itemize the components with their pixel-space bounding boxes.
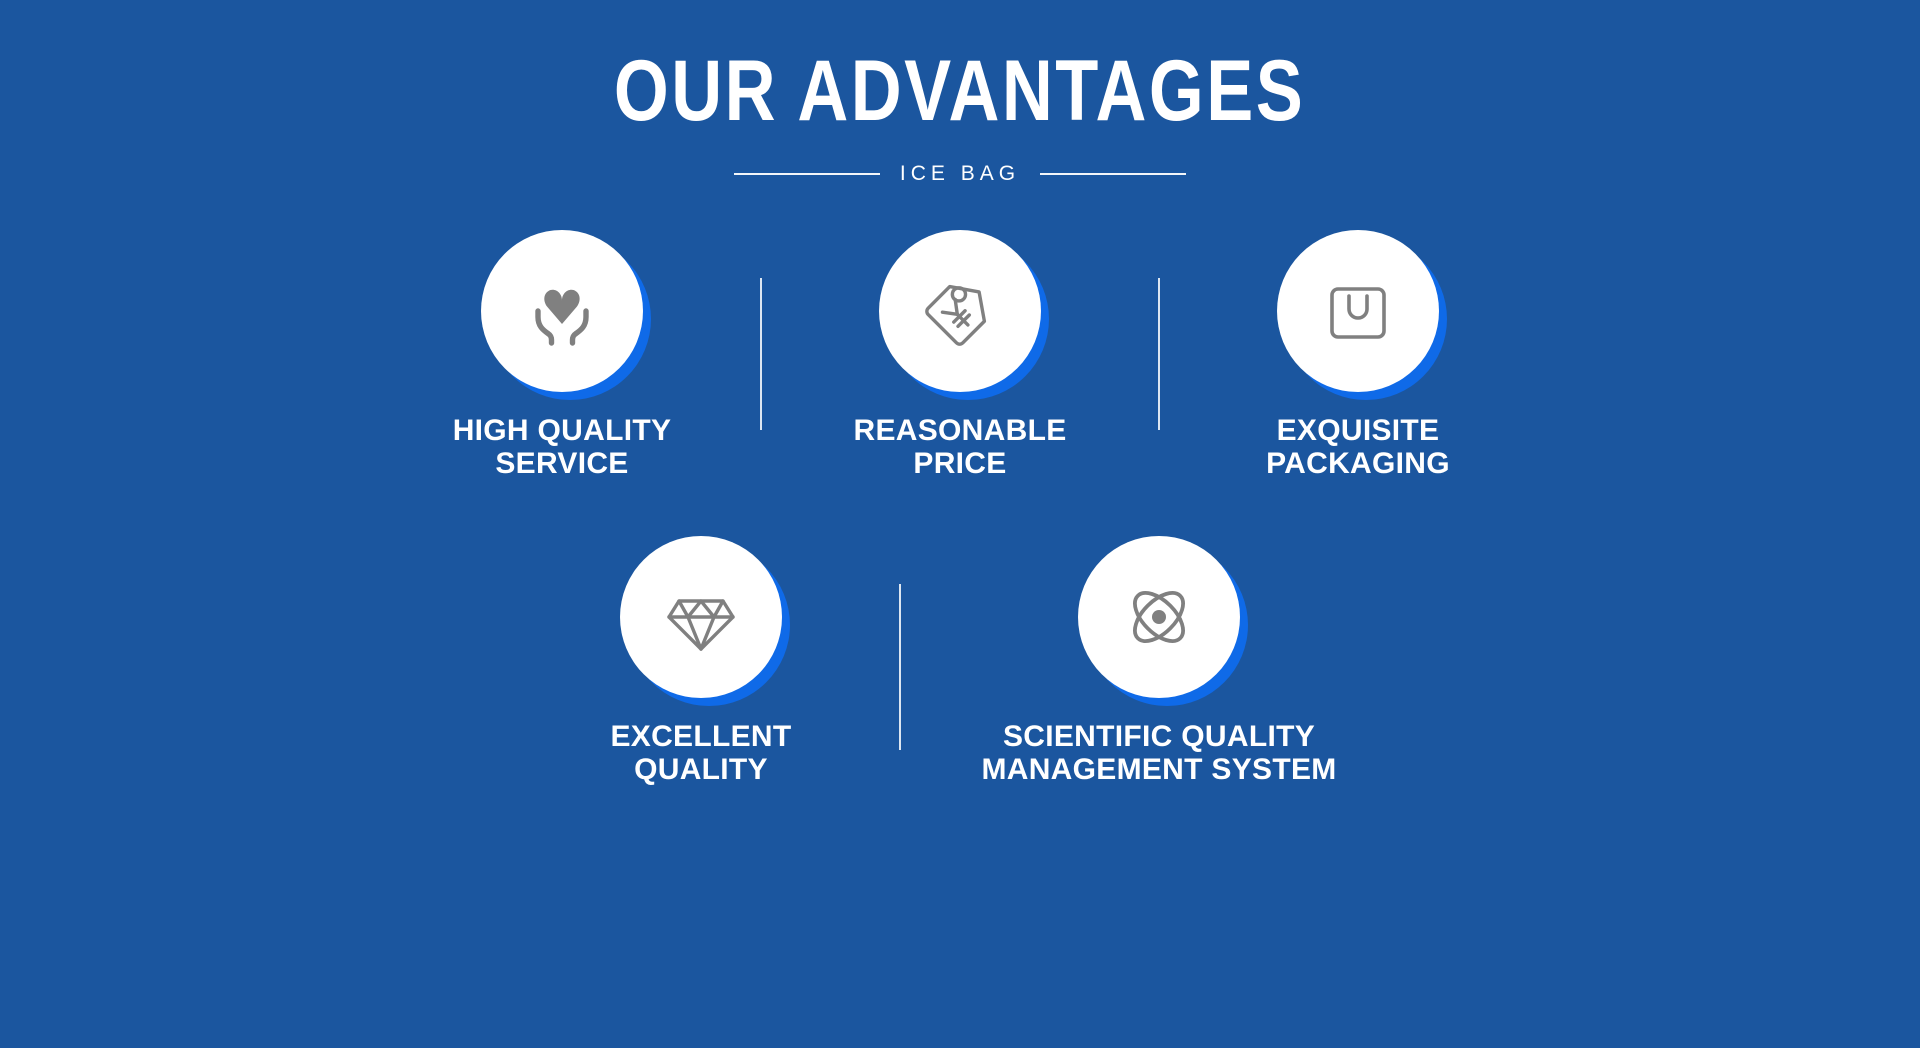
feature-label: EXQUISITE PACKAGING	[1266, 414, 1450, 480]
icon-circle	[879, 230, 1041, 392]
subtitle-rule-left	[734, 173, 880, 175]
atom-nucleus-icon	[1152, 610, 1166, 624]
atom-icon	[1117, 575, 1201, 659]
subtitle-text: ICE BAG	[900, 162, 1020, 186]
icon-disc	[620, 536, 782, 698]
feature-label-line1: EXQUISITE	[1277, 414, 1440, 447]
feature-label-line2: SERVICE	[453, 447, 672, 480]
our-advantages-banner: OUR ADVANTAGES ICE BAG	[0, 0, 1920, 1048]
features-container: HIGH QUALITY SERVICE	[0, 186, 1920, 786]
feature-label-line1: EXCELLENT	[610, 720, 791, 753]
divider-2	[1158, 278, 1160, 430]
feature-label-line2: PACKAGING	[1266, 447, 1450, 480]
banner-header: OUR ADVANTAGES ICE BAG	[0, 0, 1920, 186]
feature-excellent-quality[interactable]: EXCELLENT QUALITY	[551, 536, 851, 786]
page-title: OUR ADVANTAGES	[614, 48, 1305, 134]
feature-label: HIGH QUALITY SERVICE	[453, 414, 672, 480]
heart-in-hands-icon	[521, 270, 603, 352]
icon-circle	[1277, 230, 1439, 392]
feature-label-line2: PRICE	[853, 447, 1066, 480]
subtitle-row: ICE BAG	[734, 162, 1186, 186]
feature-label-line2: QUALITY	[610, 753, 791, 786]
icon-disc	[879, 230, 1041, 392]
icon-disc	[1277, 230, 1439, 392]
feature-reasonable-price[interactable]: REASONABLE PRICE	[810, 230, 1110, 480]
feature-label: EXCELLENT QUALITY	[610, 720, 791, 786]
feature-label-line2: MANAGEMENT SYSTEM	[981, 753, 1336, 786]
feature-scientific-quality-management-system[interactable]: SCIENTIFIC QUALITY MANAGEMENT SYSTEM	[949, 536, 1369, 786]
feature-label-line1: SCIENTIFIC QUALITY	[1003, 720, 1315, 753]
price-tag-icon	[918, 269, 1002, 353]
feature-label: REASONABLE PRICE	[853, 414, 1066, 480]
feature-high-quality-service[interactable]: HIGH QUALITY SERVICE	[412, 230, 712, 480]
icon-disc	[1078, 536, 1240, 698]
shopping-bag-icon	[1316, 269, 1400, 353]
icon-circle	[1078, 536, 1240, 698]
feature-exquisite-packaging[interactable]: EXQUISITE PACKAGING	[1208, 230, 1508, 480]
feature-label: SCIENTIFIC QUALITY MANAGEMENT SYSTEM	[981, 720, 1336, 786]
feature-label-line1: REASONABLE	[853, 414, 1066, 447]
icon-disc	[481, 230, 643, 392]
icon-circle	[620, 536, 782, 698]
diamond-icon	[659, 575, 743, 659]
subtitle-rule-right	[1040, 173, 1186, 175]
icon-circle	[481, 230, 643, 392]
feature-label-line1: HIGH QUALITY	[453, 414, 672, 447]
divider-1	[760, 278, 762, 430]
divider-3	[899, 584, 901, 750]
feature-row-top: HIGH QUALITY SERVICE	[412, 230, 1508, 480]
feature-row-bottom: EXCELLENT QUALITY	[551, 536, 1369, 786]
